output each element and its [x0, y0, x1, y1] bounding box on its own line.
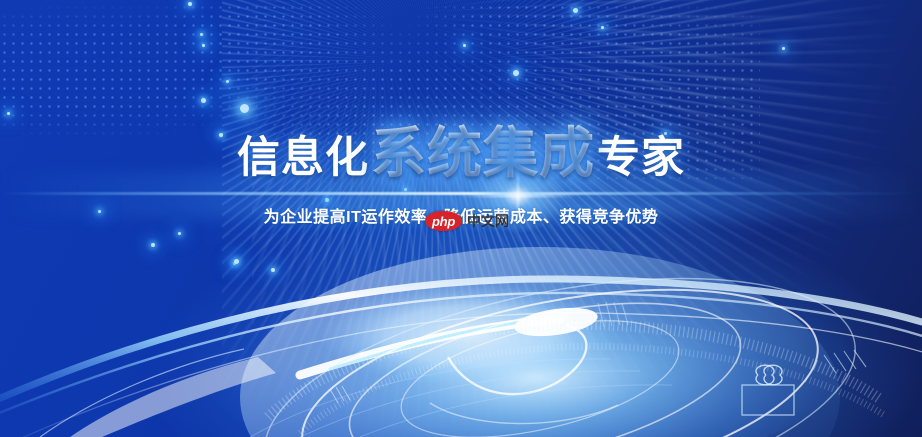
particle-icon: [202, 44, 205, 47]
banner-text-block: 信息化系统集成专家 为企业提高IT运作效率、降低运营成本、获得竞争优势: [0, 126, 922, 227]
page-subtitle: 为企业提高IT运作效率、降低运营成本、获得竞争优势: [0, 203, 922, 227]
particle-icon: [513, 70, 519, 76]
tech-orbit-graphic: [0, 207, 922, 437]
page-title: 信息化系统集成专家: [0, 126, 922, 181]
title-emphasis: 系统集成: [369, 122, 597, 184]
particle-icon: [601, 26, 604, 29]
particle-icon: [188, 2, 192, 6]
particle-icon: [573, 8, 578, 13]
title-trail: 专家: [597, 134, 685, 182]
hero-banner: 信息化系统集成专家 为企业提高IT运作效率、降低运营成本、获得竞争优势 php …: [0, 0, 922, 437]
particle-icon: [201, 98, 206, 103]
particle-icon: [226, 80, 229, 83]
particle-icon: [782, 47, 785, 50]
particle-icon: [200, 33, 203, 36]
particle-icon: [463, 44, 466, 47]
title-lead: 信息化: [237, 134, 369, 182]
particle-icon: [240, 104, 249, 113]
particle-icon: [7, 112, 10, 115]
